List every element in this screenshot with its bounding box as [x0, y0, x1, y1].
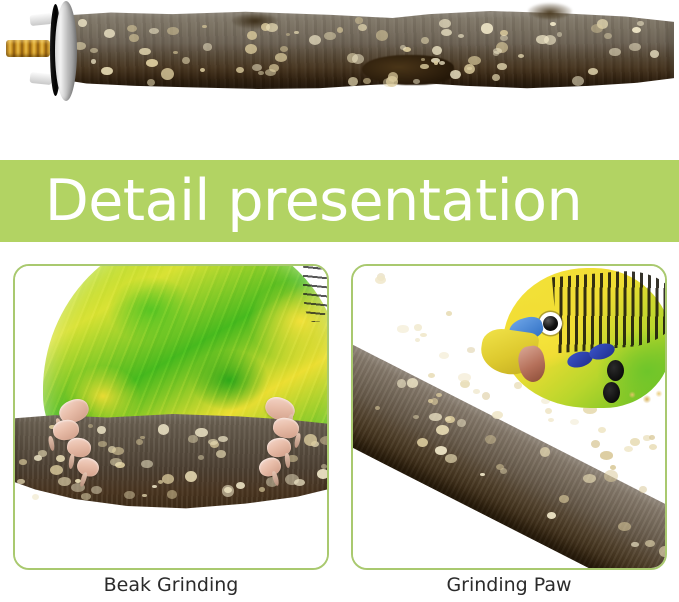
- lenticel-spot: [348, 77, 358, 86]
- lenticel-spot: [294, 31, 299, 34]
- lenticel-spot: [247, 31, 258, 40]
- lenticel-spot: [90, 48, 98, 54]
- lenticel-spot: [127, 25, 137, 32]
- lenticel-spot: [413, 415, 419, 419]
- lenticel-spot: [158, 424, 169, 434]
- lenticel-spot: [639, 486, 647, 494]
- lenticel-spot: [570, 419, 579, 425]
- branch-knot-icon: [362, 55, 454, 85]
- lenticel-spot: [275, 53, 288, 62]
- lenticel-spot: [572, 76, 584, 86]
- lenticel-spot: [397, 325, 408, 332]
- lenticel-spot: [458, 34, 464, 38]
- lenticel-spot: [467, 347, 476, 353]
- lenticel-spot: [428, 373, 435, 378]
- caption-grinding-paw: Grinding Paw: [351, 574, 667, 596]
- lenticel-spot: [400, 45, 406, 50]
- mounting-plate-icon: [55, 1, 77, 101]
- lenticel-spot: [259, 487, 265, 492]
- lenticel-spot: [188, 435, 198, 442]
- lenticel-spot: [91, 59, 96, 64]
- lenticel-spot: [436, 393, 442, 397]
- lenticel-spot: [104, 29, 115, 38]
- lenticel-spot: [129, 34, 139, 42]
- lenticel-spot: [600, 451, 613, 459]
- lenticel-spot: [358, 24, 367, 31]
- lenticel-spot: [650, 50, 660, 58]
- lenticel-spot: [545, 408, 553, 415]
- lenticel-spot: [493, 51, 499, 56]
- lenticel-spot: [415, 338, 420, 343]
- lenticel-spot: [604, 470, 618, 482]
- perch-branch: [62, 3, 674, 98]
- budgie-head: [503, 268, 665, 408]
- lenticel-spot: [185, 471, 197, 482]
- photo-grinding-paw: [353, 266, 665, 568]
- budgie-throat-spot-1: [607, 360, 624, 381]
- lenticel-spot: [496, 464, 504, 470]
- lenticel-spot: [161, 68, 174, 80]
- lenticel-spot: [630, 438, 640, 446]
- lenticel-spot: [632, 27, 641, 33]
- lenticel-spot: [110, 458, 122, 466]
- lenticel-spot: [386, 76, 399, 88]
- photo-beak-grinding: [15, 266, 327, 568]
- lenticel-spot: [583, 474, 596, 483]
- lenticel-spot: [649, 444, 658, 450]
- lenticel-spot: [550, 22, 556, 26]
- wood-crumbs-icon: [623, 386, 665, 408]
- panel-beak-grinding: [13, 264, 329, 570]
- lenticel-spot: [518, 54, 524, 58]
- wing-nut-bottom-icon: [29, 72, 52, 85]
- lenticel-spot: [450, 70, 461, 79]
- lenticel-spot: [139, 48, 151, 56]
- lenticel-spot: [434, 61, 438, 65]
- lenticel-spot: [58, 477, 71, 486]
- lenticel-spot: [536, 35, 549, 44]
- lenticel-spot: [98, 441, 107, 447]
- lenticel-spot: [631, 542, 639, 547]
- lenticel-spot: [141, 460, 153, 469]
- lenticel-spot: [439, 352, 449, 359]
- lenticel-spot: [473, 389, 480, 394]
- lenticel-spot: [618, 522, 631, 531]
- lenticel-spot: [269, 64, 279, 72]
- lenticel-spot: [492, 411, 503, 419]
- head-barring-pattern: [552, 267, 665, 353]
- lenticel-spot: [482, 392, 491, 400]
- lenticel-spot: [659, 546, 665, 557]
- caption-beak-grinding: Beak Grinding: [13, 574, 329, 596]
- lenticel-spot: [414, 324, 422, 330]
- lenticel-spot: [173, 51, 178, 54]
- wing-nut-top-icon: [29, 13, 52, 26]
- lenticel-spot: [445, 417, 451, 421]
- lenticel-spot: [304, 434, 317, 446]
- lenticel-spot: [50, 465, 63, 475]
- lenticel-spot: [19, 459, 27, 465]
- budgie-pupil: [543, 316, 558, 331]
- banner-title: Detail presentation: [0, 173, 679, 230]
- lenticel-spot: [413, 79, 419, 84]
- lenticel-spot: [152, 485, 157, 488]
- wing-feather-tips-icon: [303, 266, 327, 322]
- lenticel-spot: [146, 59, 158, 67]
- lenticel-spot: [285, 474, 299, 485]
- brass-bolt-icon: [6, 40, 50, 57]
- lenticel-spot: [56, 455, 65, 462]
- lenticel-spot: [355, 17, 364, 24]
- lenticel-spot: [375, 276, 386, 284]
- lenticel-spot: [439, 61, 445, 65]
- lenticel-spot: [78, 19, 87, 27]
- lenticel-spot: [441, 29, 452, 36]
- lenticel-spot: [458, 373, 471, 382]
- lenticel-spot: [429, 413, 442, 422]
- lenticel-spot: [445, 454, 457, 463]
- lenticel-spot: [81, 493, 91, 500]
- lenticel-spot: [421, 58, 425, 61]
- lenticel-spot: [436, 425, 449, 435]
- lenticel-spot: [500, 35, 508, 41]
- lenticel-spot: [236, 482, 245, 489]
- lenticel-spot: [624, 446, 634, 453]
- lenticel-spot: [604, 33, 612, 40]
- lenticel-spot: [203, 43, 213, 50]
- lenticel-spot: [464, 64, 475, 74]
- lenticel-spot: [317, 469, 327, 480]
- detail-panels: Beak Grinding Grinding Paw: [0, 264, 679, 602]
- lenticel-spot: [32, 494, 39, 500]
- lenticel-spot: [649, 435, 655, 440]
- panel-grinding-paw: [351, 264, 667, 570]
- budgie-lower-beak: [516, 344, 548, 384]
- lenticel-spot: [245, 44, 257, 54]
- lenticel-spot: [481, 23, 493, 33]
- lenticel-spot: [407, 378, 418, 388]
- budgie-throat-spot-2: [603, 382, 620, 403]
- lenticel-spot: [629, 43, 641, 51]
- lenticel-spot: [439, 19, 451, 28]
- lenticel-spot: [421, 37, 429, 44]
- lenticel-spot: [202, 25, 206, 28]
- lenticel-spot: [195, 428, 207, 438]
- lenticel-spot: [266, 23, 278, 32]
- lenticel-spot: [397, 379, 406, 388]
- lenticel-spot: [363, 78, 370, 84]
- lenticel-spot: [182, 57, 190, 64]
- lenticel-spot: [548, 418, 554, 422]
- lenticel-spot: [149, 28, 158, 34]
- lenticel-spot: [208, 439, 217, 445]
- lenticel-spot: [420, 333, 428, 338]
- hero-product-photo: [0, 0, 679, 158]
- lenticel-spot: [432, 46, 442, 55]
- branch-nub-icon: [528, 3, 572, 19]
- lenticel-spot: [637, 21, 644, 27]
- lenticel-spot: [320, 436, 327, 445]
- lenticel-spot: [591, 440, 600, 448]
- lenticel-spot: [598, 427, 606, 433]
- lenticel-spot: [446, 311, 452, 316]
- lenticel-spot: [216, 450, 226, 458]
- lenticel-spot: [559, 495, 569, 503]
- lenticel-spot: [376, 30, 388, 41]
- detail-presentation-banner: Detail presentation: [0, 160, 679, 242]
- lenticel-spot: [337, 27, 343, 33]
- mounting-hardware: [0, 0, 78, 104]
- lenticel-spot: [167, 490, 178, 499]
- lenticel-spot: [101, 67, 113, 75]
- lenticel-spot: [258, 71, 264, 76]
- lenticel-spot: [124, 491, 135, 499]
